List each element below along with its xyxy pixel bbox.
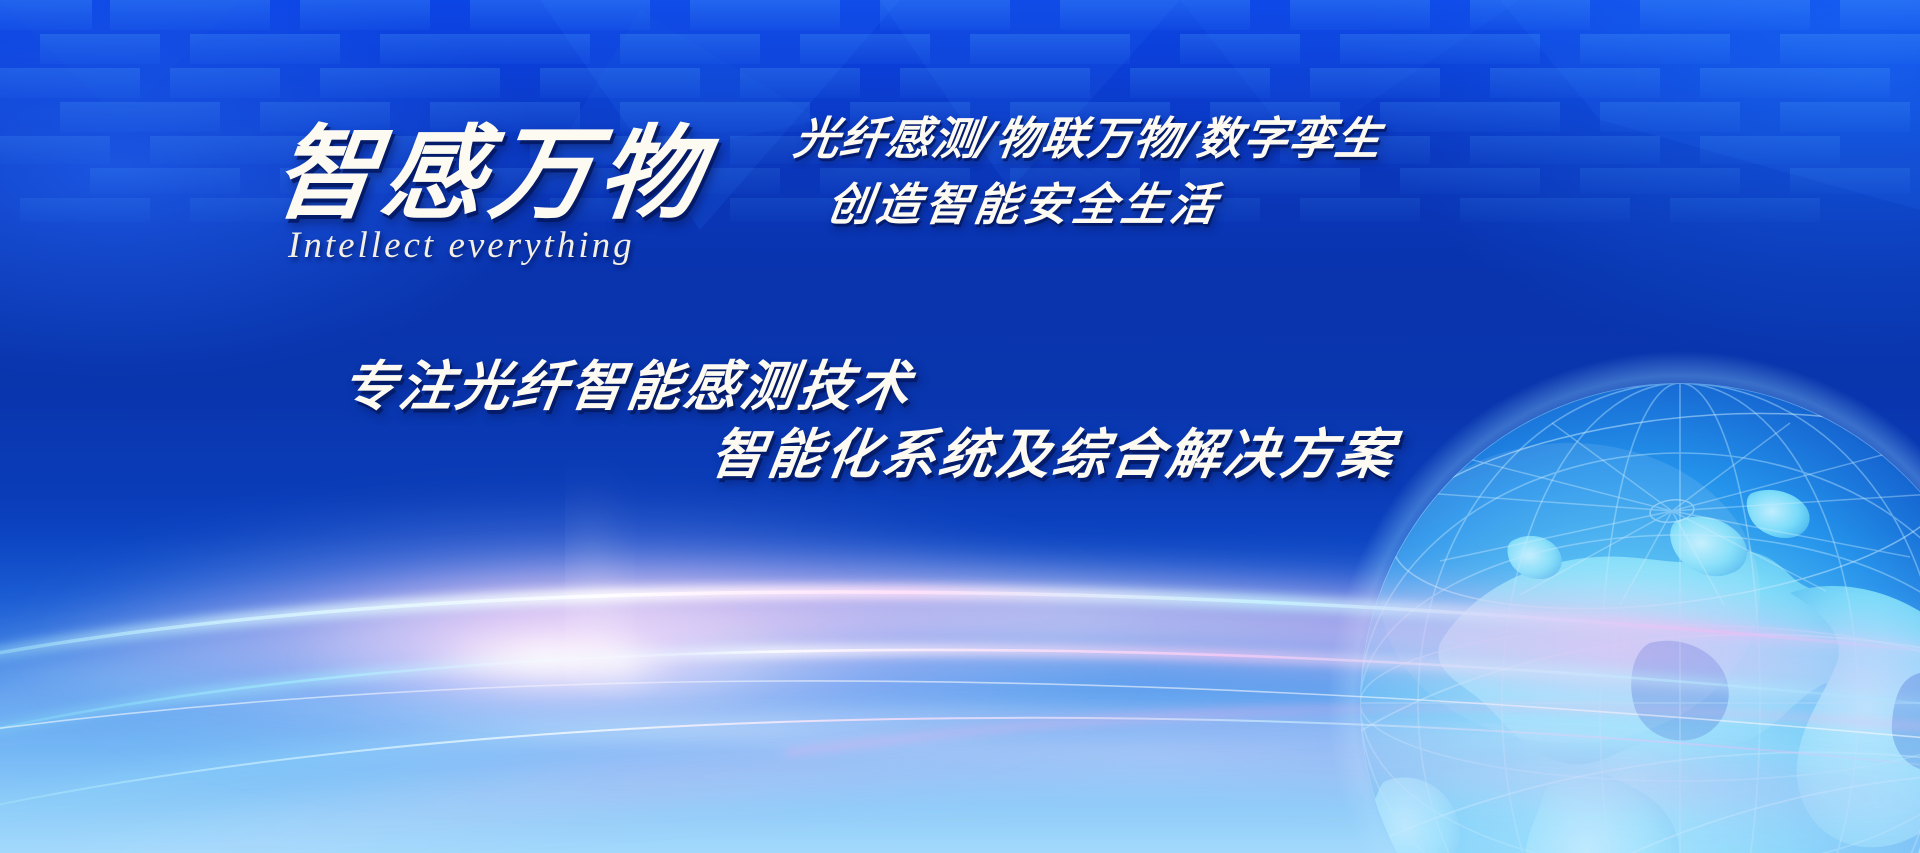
headline-chinese: 智感万物 bbox=[267, 92, 717, 239]
tagline-services: 光纤感测/物联万物/数字孪生 bbox=[790, 102, 1386, 167]
bottom-haze bbox=[0, 533, 1920, 853]
headline-english: Intellect everything bbox=[288, 224, 635, 267]
lens-flare bbox=[560, 630, 680, 700]
focus-statement-2: 智能化系统及综合解决方案 bbox=[706, 410, 1401, 489]
tagline-slogan: 创造智能安全生活 bbox=[823, 168, 1224, 233]
hero-banner: 智感万物 Intellect everything 光纤感测/物联万物/数字孪生… bbox=[0, 0, 1920, 853]
